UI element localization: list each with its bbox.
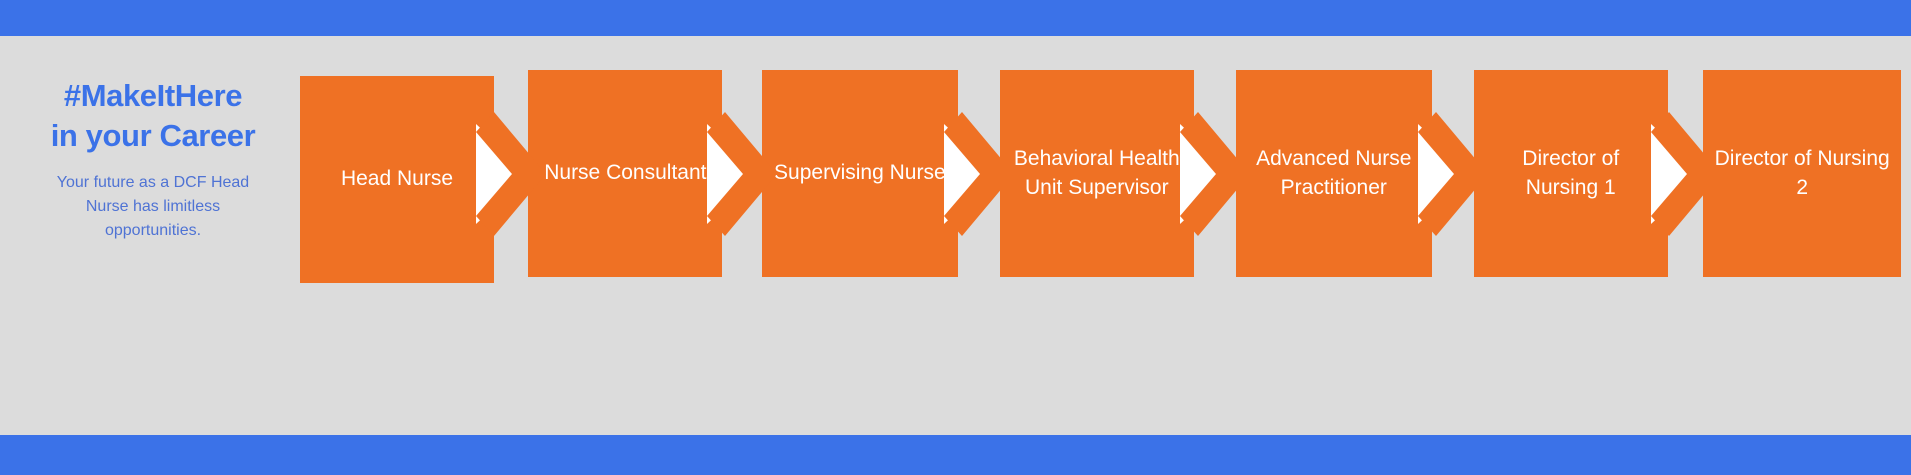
flow-node-label: Head Nurse [341, 165, 453, 194]
promo-subtitle: Your future as a DCF Head Nurse has limi… [8, 171, 298, 243]
flow-node-label: Behavioral Health Unit Supervisor [1010, 145, 1184, 202]
flow-node[interactable]: Supervising Nurse [762, 70, 958, 277]
top-accent-bar [0, 0, 1911, 36]
flow-node[interactable]: Director of Nursing 2 [1703, 70, 1901, 277]
promo-heading-line-2: in your Career [8, 116, 298, 156]
flow-node-label: Director of Nursing 1 [1484, 145, 1658, 202]
promo-heading: #MakeItHere in your Career [8, 76, 298, 155]
promo-heading-line-1: #MakeItHere [64, 78, 242, 113]
flow-node[interactable]: Director of Nursing 1 [1474, 70, 1668, 277]
flow-node-label: Nurse Consultant [544, 159, 706, 188]
promo-block: #MakeItHere in your Career Your future a… [8, 76, 298, 243]
content-canvas: #MakeItHere in your Career Your future a… [0, 36, 1911, 435]
bottom-accent-bar [0, 435, 1911, 475]
flow-node-label: Advanced Nurse Practitioner [1246, 145, 1422, 202]
flow-node-label: Supervising Nurse [774, 159, 946, 188]
flow-node-label: Director of Nursing 2 [1713, 145, 1891, 202]
flow-node[interactable]: Behavioral Health Unit Supervisor [1000, 70, 1194, 277]
flow-node[interactable]: Head Nurse [300, 76, 494, 283]
flow-node[interactable]: Nurse Consultant [528, 70, 722, 277]
flow-node[interactable]: Advanced Nurse Practitioner [1236, 70, 1432, 277]
career-path-flow: Head NurseNurse ConsultantSupervising Nu… [300, 36, 1911, 435]
